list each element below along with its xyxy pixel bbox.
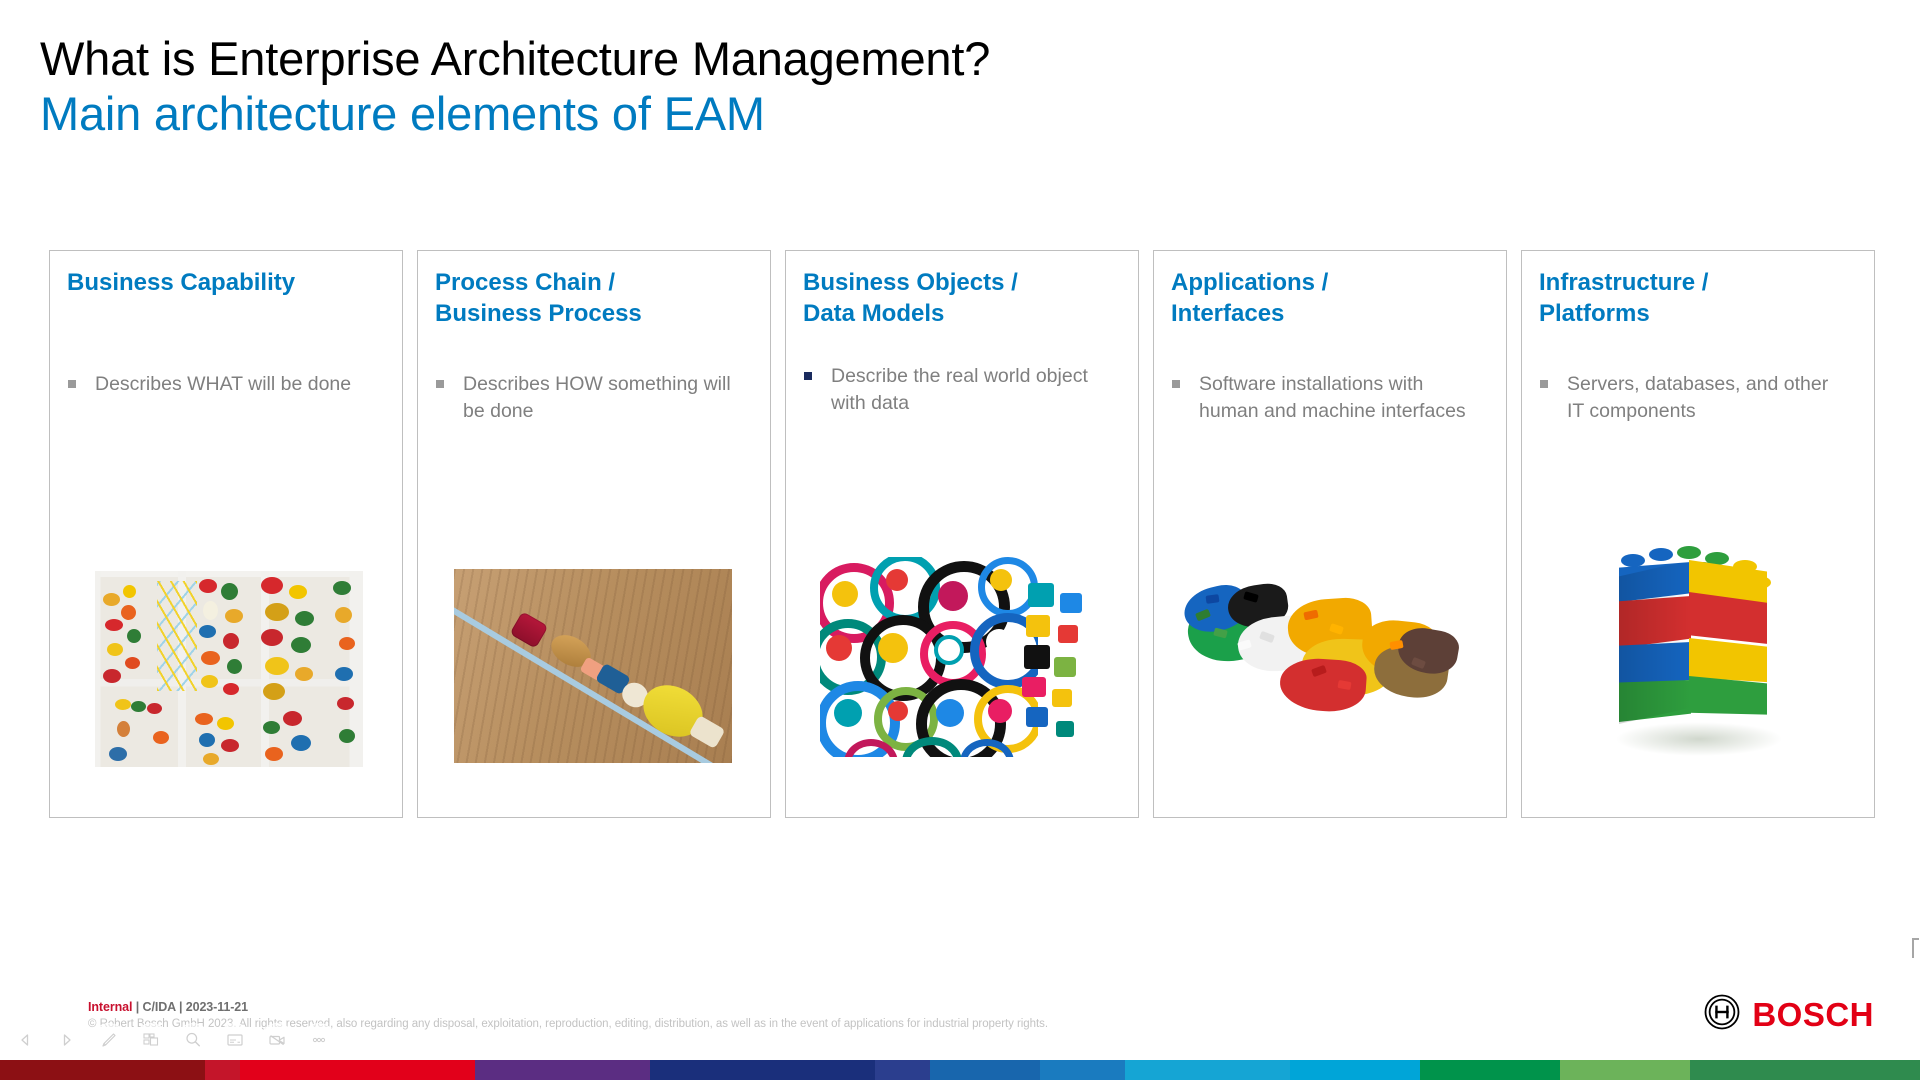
card-image-bead-string bbox=[454, 569, 732, 763]
card-bullet-list: Describe the real world object with data bbox=[804, 363, 1124, 416]
slide-canvas: What is Enterprise Architecture Manageme… bbox=[0, 0, 1920, 1080]
card-business-objects[interactable]: Business Objects / Data Models Describe … bbox=[785, 250, 1139, 818]
card-title: Infrastructure / Platforms bbox=[1539, 267, 1859, 329]
previous-slide-button[interactable] bbox=[8, 1023, 42, 1057]
camera-off-button[interactable] bbox=[260, 1023, 294, 1057]
bullet-square-icon bbox=[1172, 380, 1180, 388]
bullet-square-icon bbox=[436, 380, 444, 388]
bosch-armature-icon bbox=[1704, 994, 1740, 1035]
supergraphic-segment bbox=[0, 1060, 205, 1080]
supergraphic-segment bbox=[1290, 1060, 1420, 1080]
card-title-line1: Applications / bbox=[1171, 267, 1491, 298]
architecture-elements-row: Business Capability Describes WHAT will … bbox=[49, 250, 1879, 820]
bosch-logo: BOSCH bbox=[1704, 994, 1874, 1035]
supergraphic-segment bbox=[650, 1060, 875, 1080]
bullet-square-icon bbox=[804, 372, 812, 380]
card-title-line2: Business Process bbox=[435, 298, 755, 329]
card-infrastructure-platforms[interactable]: Infrastructure / Platforms Servers, data… bbox=[1521, 250, 1875, 818]
list-item: Servers, databases, and other IT compone… bbox=[1540, 371, 1860, 424]
card-bullet-list: Servers, databases, and other IT compone… bbox=[1540, 371, 1860, 424]
ellipsis-icon bbox=[310, 1031, 328, 1049]
subtitles-button[interactable] bbox=[218, 1023, 252, 1057]
supergraphic-segment bbox=[475, 1060, 650, 1080]
bullet-text: Servers, databases, and other IT compone… bbox=[1567, 371, 1835, 424]
grid-slides-icon bbox=[142, 1031, 160, 1049]
supergraphic-segment bbox=[1125, 1060, 1290, 1080]
card-business-capability[interactable]: Business Capability Describes WHAT will … bbox=[49, 250, 403, 818]
list-item: Describes HOW something will be done bbox=[436, 371, 756, 424]
card-bullet-list: Software installations with human and ma… bbox=[1172, 371, 1492, 424]
next-slide-button[interactable] bbox=[50, 1023, 84, 1057]
page-title: What is Enterprise Architecture Manageme… bbox=[40, 32, 1640, 142]
card-process-chain[interactable]: Process Chain / Business Process Describ… bbox=[417, 250, 771, 818]
bullet-square-icon bbox=[68, 380, 76, 388]
triangle-right-icon bbox=[59, 1032, 75, 1048]
bullet-text: Software installations with human and ma… bbox=[1199, 371, 1467, 424]
card-title: Business Capability bbox=[67, 267, 387, 298]
list-item: Describe the real world object with data bbox=[804, 363, 1124, 416]
list-item: Describes WHAT will be done bbox=[68, 371, 388, 398]
presentation-toolbar[interactable] bbox=[0, 1018, 336, 1062]
camera-off-icon bbox=[268, 1031, 286, 1049]
title-subtitle: Main architecture elements of EAM bbox=[40, 87, 1640, 142]
card-image-brick-pile bbox=[1184, 581, 1484, 731]
supergraphic-segment bbox=[1040, 1060, 1125, 1080]
date-label: 2023-11-21 bbox=[186, 1000, 248, 1014]
card-title-line1: Infrastructure / bbox=[1539, 267, 1859, 298]
card-bullet-list: Describes HOW something will be done bbox=[436, 371, 756, 424]
card-image-puzzle-pieces bbox=[1018, 581, 1128, 751]
subtitles-icon bbox=[226, 1031, 244, 1049]
triangle-left-icon bbox=[17, 1032, 33, 1048]
bosch-wordmark: BOSCH bbox=[1752, 998, 1874, 1031]
footer-metadata: Internal | C/IDA | 2023-11-21 bbox=[88, 1000, 248, 1014]
footer-separator-2: | bbox=[176, 1000, 186, 1014]
supergraphic-segment bbox=[205, 1060, 240, 1080]
footer-separator-1: | bbox=[132, 1000, 142, 1014]
more-options-button[interactable] bbox=[302, 1023, 336, 1057]
supergraphic-segment bbox=[1690, 1060, 1920, 1080]
supergraphic-segment bbox=[875, 1060, 930, 1080]
zoom-button[interactable] bbox=[176, 1023, 210, 1057]
supergraphic-segment bbox=[930, 1060, 1040, 1080]
bullet-text: Describes WHAT will be done bbox=[95, 371, 363, 398]
bullet-text: Describe the real world object with data bbox=[831, 363, 1099, 416]
supergraphic-segment bbox=[1560, 1060, 1690, 1080]
card-title: Process Chain / Business Process bbox=[435, 267, 755, 329]
list-item: Software installations with human and ma… bbox=[1172, 371, 1492, 424]
classification-label: Internal bbox=[88, 1000, 132, 1014]
card-title-line2: Data Models bbox=[803, 298, 1123, 329]
bullet-text: Describes HOW something will be done bbox=[463, 371, 731, 424]
card-image-beads-tray bbox=[95, 571, 363, 767]
card-title-line1: Business Objects / bbox=[803, 267, 1123, 298]
card-image-circles-pattern bbox=[820, 557, 1038, 757]
title-main: What is Enterprise Architecture Manageme… bbox=[40, 32, 1640, 87]
card-title: Business Objects / Data Models bbox=[803, 267, 1123, 329]
magnifier-icon bbox=[184, 1031, 202, 1049]
bosch-supergraphic-bar bbox=[0, 1060, 1920, 1080]
supergraphic-segment bbox=[1420, 1060, 1560, 1080]
slide-overview-button[interactable] bbox=[134, 1023, 168, 1057]
bullet-square-icon bbox=[1540, 380, 1548, 388]
card-image-lego-stack bbox=[1597, 546, 1797, 761]
card-bullet-list: Describes WHAT will be done bbox=[68, 371, 388, 398]
card-title: Applications / Interfaces bbox=[1171, 267, 1491, 329]
card-title-line2: Platforms bbox=[1539, 298, 1859, 329]
card-title-line2: Interfaces bbox=[1171, 298, 1491, 329]
department-label: C/IDA bbox=[143, 1000, 176, 1014]
card-applications-interfaces[interactable]: Applications / Interfaces Software insta… bbox=[1153, 250, 1507, 818]
pen-annotate-button[interactable] bbox=[92, 1023, 126, 1057]
edge-artifact bbox=[1912, 938, 1919, 958]
supergraphic-segment bbox=[240, 1060, 475, 1080]
pen-icon bbox=[100, 1031, 118, 1049]
card-title-line1: Process Chain / bbox=[435, 267, 755, 298]
